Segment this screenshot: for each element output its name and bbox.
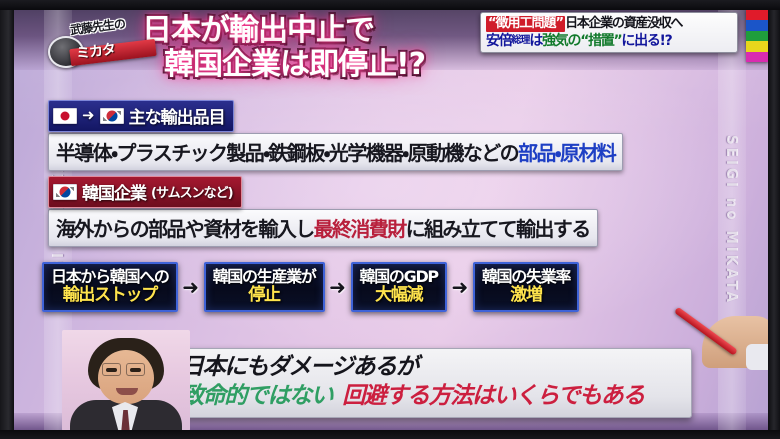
panel-2-text-accent: 最終消費財 xyxy=(314,217,406,241)
panel-korean-companies: 韓国企業 (サムスンなど) 海外からの部品や資材を輸入し最終消費財に組み立てて輸… xyxy=(48,176,598,247)
flow-arrow-3-icon: ➜ xyxy=(447,277,473,297)
news-banner-wa: は xyxy=(529,34,542,49)
panel-2-text-plain-2: に組み立てて輸出する xyxy=(406,217,590,241)
caption-line2-red: 回避する方法はいくらでもある xyxy=(342,383,644,409)
commentator-photo xyxy=(62,330,190,431)
panel-1-title: 主な輸出品目 xyxy=(129,103,225,128)
caption-line2: 致命的ではない回避する方法はいくらでもある xyxy=(181,382,679,411)
caption-line2-green: 致命的ではない xyxy=(181,383,332,409)
caption-line1: 日本にもダメージあるが xyxy=(181,353,679,382)
japan-flag-icon xyxy=(53,108,77,124)
panel-main-export-items: ➜ 主な輸出品目 半導体・プラスチック製品・鉄鋼板・光学機器・原動機などの部品・… xyxy=(48,100,623,171)
bezel-left xyxy=(0,0,14,439)
panel-2-title: 韓国企業 xyxy=(82,179,146,204)
bottom-caption: 日本にもダメージあるが 致命的ではない回避する方法はいくらでもある xyxy=(168,348,692,418)
red-pointer-stick xyxy=(676,300,762,358)
news-banner-line1: “徴用工問題” 日本企業の資産没収へ xyxy=(486,16,732,32)
pointer-shaft xyxy=(674,307,738,356)
news-banner-line2: 安倍 総理 は 強気の“措置” に出る!? xyxy=(486,34,732,49)
flow-box-3-line1: 韓国のGDP xyxy=(360,268,438,286)
panel-1-body: 半導体・プラスチック製品・鉄鋼板・光学機器・原動機などの部品・原材料 xyxy=(48,133,623,171)
show-ribbon-right: SEIGI no MIKATA xyxy=(718,0,746,439)
flow-box-1-line2: 輸出ストップ xyxy=(51,286,169,305)
color-bar-red xyxy=(746,10,768,20)
news-banner-measure: 強気の“措置” xyxy=(542,34,621,49)
panel-2-text-plain-1: 海外からの部品や資材を輸入し xyxy=(56,217,314,241)
photo-eye-right xyxy=(130,368,141,372)
flow-box-2-line1: 韓国の生産業が xyxy=(213,268,316,286)
flow-box-2-line2: 停止 xyxy=(213,286,316,305)
logo-line1: 武藤先生の xyxy=(69,15,126,39)
flow-box-3: 韓国のGDP 大幅減 xyxy=(351,262,447,311)
news-banner: “徴用工問題” 日本企業の資産没収へ 安倍 総理 は 強気の“措置” に出る!? xyxy=(480,12,738,53)
arrow-right-icon: ➜ xyxy=(82,108,95,123)
panel-1-header: ➜ 主な輸出品目 xyxy=(48,100,234,132)
flow-arrow-1-icon: ➜ xyxy=(178,277,204,297)
panel-1-text: 半導体・プラスチック製品・鉄鋼板・光学機器・原動機などの部品・原材料 xyxy=(56,137,615,166)
flow-box-4-line2: 激増 xyxy=(482,286,570,305)
flow-box-4: 韓国の失業率 激増 xyxy=(473,262,579,311)
show-logo: 武藤先生の ミカタ xyxy=(46,14,158,72)
flow-box-1-line1: 日本から韓国への xyxy=(51,268,169,286)
panel-2-text: 海外からの部品や資材を輸入し最終消費財に組み立てて輸出する xyxy=(56,213,590,242)
bezel-top xyxy=(0,0,780,10)
korea-flag-icon-2 xyxy=(53,184,77,200)
korea-flag-icon xyxy=(100,108,124,124)
photo-mouth xyxy=(116,388,138,395)
news-banner-line1-rest: 日本企業の資産没収へ xyxy=(565,17,682,31)
bezel-bottom xyxy=(0,430,780,439)
flow-box-2: 韓国の生産業が 停止 xyxy=(204,262,325,311)
color-bar-yellow xyxy=(746,41,768,51)
panel-2-subtitle: (サムスンなど) xyxy=(151,182,233,201)
consequence-flow: 日本から韓国への 輸出ストップ ➜ 韓国の生産業が 停止 ➜ 韓国のGDP 大幅… xyxy=(42,256,742,318)
news-banner-title: 総理 xyxy=(511,36,529,47)
panel-2-body: 海外からの部品や資材を輸入し最終消費財に組み立てて輸出する xyxy=(48,209,598,247)
color-bars xyxy=(746,10,768,62)
news-banner-highlight: “徴用工問題” xyxy=(486,16,565,32)
news-banner-abe: 安倍 xyxy=(486,34,511,49)
panel-2-header: 韓国企業 (サムスンなど) xyxy=(48,176,242,208)
bezel-right xyxy=(768,0,780,439)
photo-face xyxy=(98,350,154,404)
flow-box-1: 日本から韓国への 輸出ストップ xyxy=(42,262,178,311)
color-bar-blue xyxy=(746,20,768,30)
tv-screenshot: SEIGI no MIKATA SEIGI no MIKATA 武藤先生の ミカ… xyxy=(0,0,780,439)
news-banner-tail: に出る!? xyxy=(621,34,671,49)
color-bar-magenta xyxy=(746,52,768,62)
flow-box-4-line1: 韓国の失業率 xyxy=(482,268,570,286)
flow-box-3-line2: 大幅減 xyxy=(360,286,438,305)
panel-1-text-accent: 部品・原材料 xyxy=(518,141,615,165)
photo-eye-left xyxy=(106,368,117,372)
color-bar-green xyxy=(746,31,768,41)
panel-1-text-plain: 半導体・プラスチック製品・鉄鋼板・光学機器・原動機などの xyxy=(56,141,518,165)
flow-arrow-2-icon: ➜ xyxy=(325,277,351,297)
